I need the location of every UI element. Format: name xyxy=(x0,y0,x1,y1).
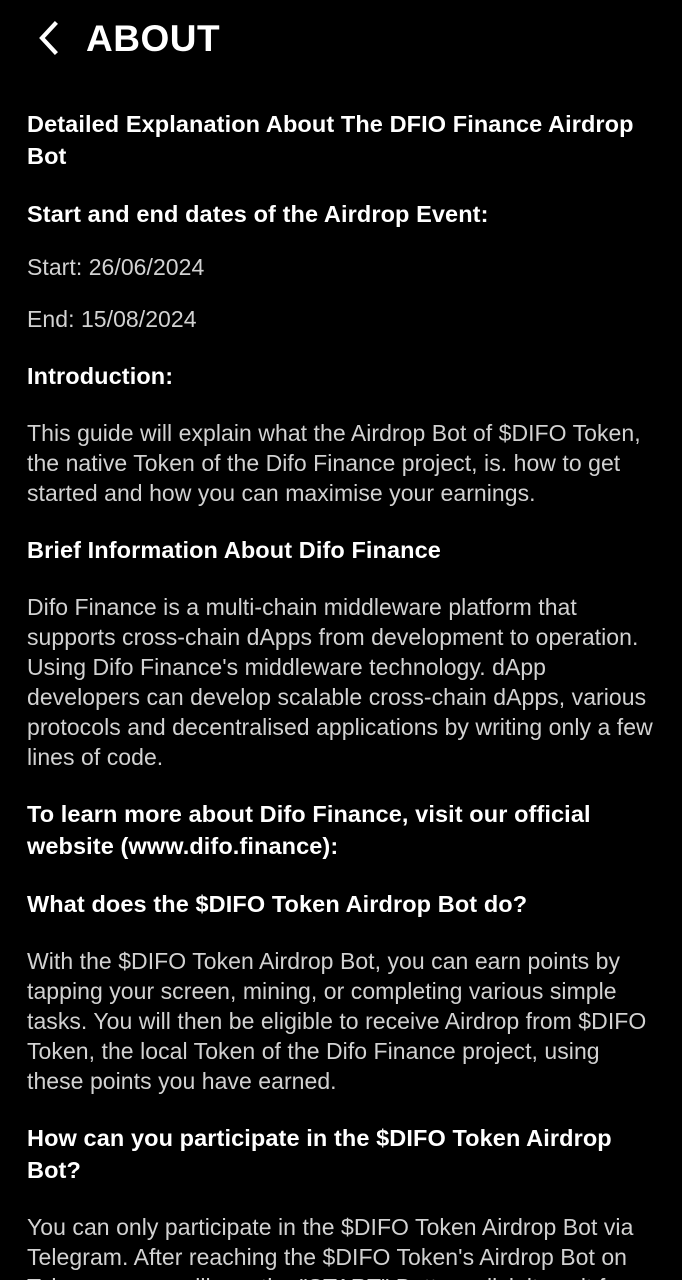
paragraph-end-date: End: 15/08/2024 xyxy=(27,304,655,334)
heading-start-end-dates: Start and end dates of the Airdrop Event… xyxy=(27,198,655,230)
paragraph-start-date: Start: 26/06/2024 xyxy=(27,252,655,282)
paragraph-what-does-bot-do: With the $DIFO Token Airdrop Bot, you ca… xyxy=(27,946,655,1096)
about-content: Detailed Explanation About The DFIO Fina… xyxy=(0,108,682,1280)
chevron-left-icon xyxy=(37,21,59,55)
paragraph-brief-information: Difo Finance is a multi-chain middleware… xyxy=(27,592,655,772)
about-screen: ABOUT Detailed Explanation About The DFI… xyxy=(0,0,682,1280)
paragraph-introduction: This guide will explain what the Airdrop… xyxy=(27,418,655,508)
back-button[interactable] xyxy=(28,18,68,58)
heading-introduction: Introduction: xyxy=(27,360,655,392)
page-title: ABOUT xyxy=(86,20,220,57)
heading-brief-information: Brief Information About Difo Finance xyxy=(27,534,655,566)
app-bar: ABOUT xyxy=(0,0,682,76)
heading-how-to-participate: How can you participate in the $DIFO Tok… xyxy=(27,1122,655,1186)
heading-official-website: To learn more about Difo Finance, visit … xyxy=(27,798,655,862)
heading-what-does-bot-do: What does the $DIFO Token Airdrop Bot do… xyxy=(27,888,655,920)
paragraph-how-to-participate: You can only participate in the $DIFO To… xyxy=(27,1212,655,1280)
heading-detailed-explanation: Detailed Explanation About The DFIO Fina… xyxy=(27,108,655,172)
